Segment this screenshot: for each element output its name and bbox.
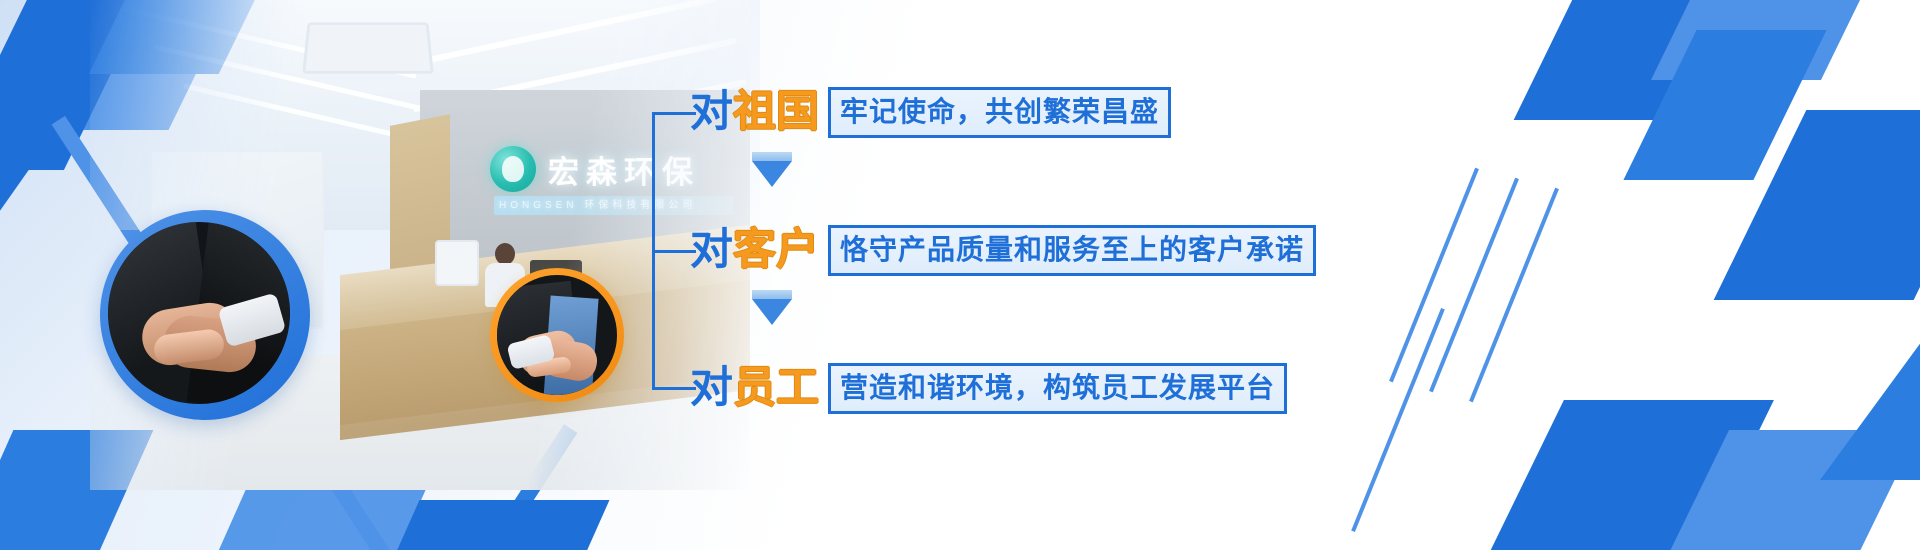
slogan-heading-2: 对客户: [690, 229, 819, 272]
slogan-row-3: 对员工 营造和谐环境，构筑员工发展平台: [690, 362, 1287, 414]
slogan-heading-keyword-1: 祖国: [733, 88, 819, 136]
slogan-heading-prefix-3: 对: [690, 364, 733, 412]
slogan-box-1: 牢记使命，共创繁荣昌盛: [828, 87, 1171, 138]
slogan-heading-prefix-1: 对: [690, 88, 733, 136]
slogan-heading-3: 对员工: [690, 367, 819, 410]
arrow-cap-1: [752, 152, 792, 161]
slogan-box-3: 营造和谐环境，构筑员工发展平台: [828, 363, 1287, 414]
slogan-group: 对祖国 牢记使命，共创繁荣昌盛 对客户 恪守产品质量和服务至上的客户承诺 对员工…: [652, 86, 1352, 416]
globe-leaf-icon: [490, 146, 536, 192]
slogan-heading-prefix-2: 对: [690, 226, 733, 274]
slogan-heading-keyword-2: 客户: [733, 226, 819, 274]
company-culture-banner: 宏森环保 HONGSEN 环保科技有限公司 对祖国: [0, 0, 1920, 550]
slogan-row-1: 对祖国 牢记使命，共创繁荣昌盛: [690, 86, 1171, 138]
slogan-heading-1: 对祖国: [690, 91, 819, 134]
photo-monitor: [435, 240, 479, 286]
down-triangle-icon-2: [752, 290, 792, 325]
arrow-triangle-1: [752, 161, 792, 187]
photo-ceiling-vent: [302, 22, 434, 73]
slogan-heading-keyword-3: 员工: [733, 364, 819, 412]
handshake-photo: [108, 222, 290, 404]
decor-triangle-right-edge: [1820, 330, 1920, 480]
slogan-box-2: 恪守产品质量和服务至上的客户承诺: [828, 225, 1316, 276]
arrow-cap-2: [752, 290, 792, 299]
down-triangle-icon-1: [752, 152, 792, 187]
slogan-row-2: 对客户 恪守产品质量和服务至上的客户承诺: [690, 224, 1316, 276]
applause-photo: [497, 275, 617, 395]
arrow-triangle-2: [752, 299, 792, 325]
photo-receptionist-head: [495, 243, 515, 265]
